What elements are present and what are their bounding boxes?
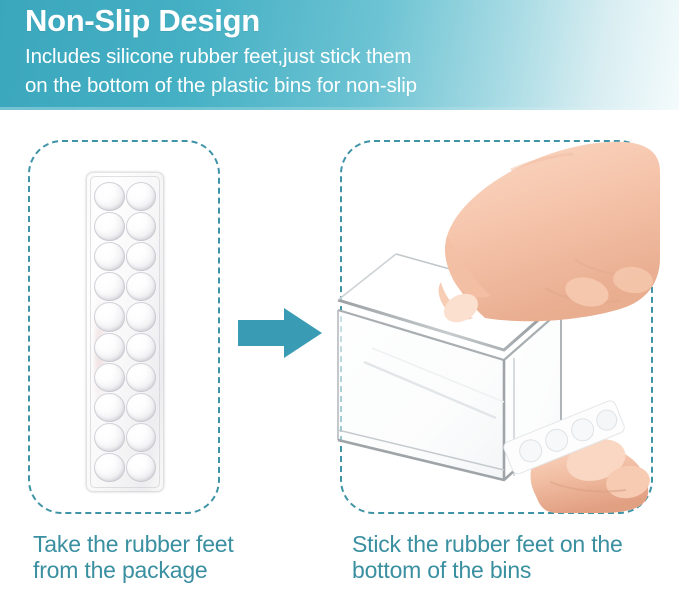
caption-right: Stick the rubber feet on the bottom of t…	[352, 531, 672, 583]
bumper-dome	[94, 423, 125, 452]
bumper-dome	[94, 302, 125, 331]
hand-holding-strip	[500, 378, 640, 468]
bumper-dome-grid	[94, 182, 156, 482]
header-subtitle-line-2: on the bottom of the plastic bins for no…	[25, 74, 417, 98]
bumper-dome	[126, 182, 157, 211]
bumper-dome	[126, 242, 157, 271]
bumper-dome	[126, 363, 157, 392]
hand-pressing-bumper	[425, 140, 660, 325]
bumper-dome	[94, 242, 125, 271]
right-arrow-icon	[238, 306, 322, 360]
bumper-dome	[94, 212, 125, 241]
bumper-dome	[126, 272, 157, 301]
bumper-dome	[126, 423, 157, 452]
bumper-dome	[94, 393, 125, 422]
bumper-dome	[94, 333, 125, 362]
caption-left: Take the rubber feet from the package	[33, 531, 263, 583]
bumper-dome	[126, 393, 157, 422]
bumper-dome	[126, 453, 157, 482]
blister-pack-image	[86, 172, 164, 492]
bumper-dome	[94, 272, 125, 301]
bumper-dome	[126, 212, 157, 241]
bumper-dome	[94, 453, 125, 482]
header-subtitle-line-1: Includes silicone rubber feet,just stick…	[25, 45, 411, 69]
page-title: Non-Slip Design	[25, 3, 260, 39]
bumper-dome	[94, 182, 125, 211]
header-banner: Non-Slip Design Includes silicone rubber…	[0, 0, 679, 110]
bumper-dome	[126, 333, 157, 362]
bumper-dome	[94, 363, 125, 392]
bumper-dome	[126, 302, 157, 331]
